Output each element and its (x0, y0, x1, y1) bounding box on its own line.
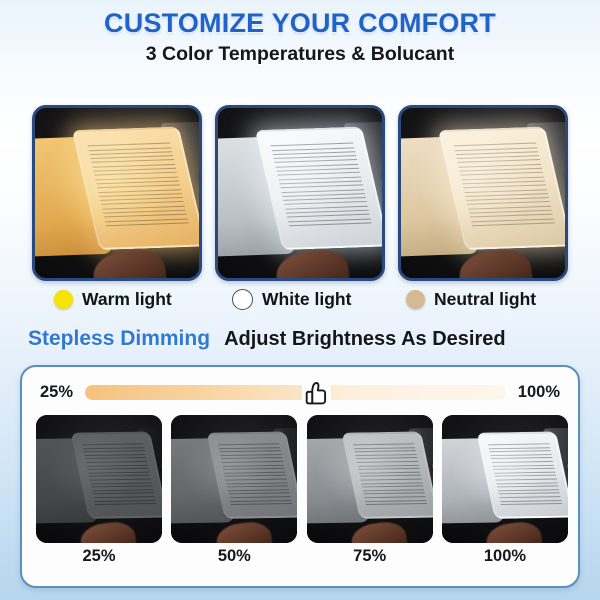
power-button-icon (565, 173, 568, 183)
brightness-label-25: 25% (36, 547, 162, 577)
legend-item-white-light[interactable]: White light (220, 289, 406, 310)
color-temperature-legend: Warm light White light Neutral light (32, 283, 568, 315)
power-button-icon (432, 464, 433, 474)
dimming-headings: Stepless Dimming Adjust Brightness As De… (28, 327, 576, 351)
power-button-icon (297, 464, 298, 474)
page-title: CUSTOMIZE YOUR COMFORT (0, 9, 600, 38)
brightness-thumbnail-row (36, 415, 568, 543)
color-temperature-photo-row (32, 105, 568, 281)
book-text-lines (88, 143, 191, 234)
photo-scene (171, 415, 297, 543)
dimming-heading-primary: Stepless Dimming (28, 327, 210, 351)
circle-swatch-icon (232, 289, 253, 310)
photo-scene (35, 108, 199, 278)
power-button-icon (382, 173, 385, 183)
power-button-icon (199, 173, 202, 183)
thumbnail-brightness-75[interactable] (307, 415, 433, 543)
legend-label: Warm light (82, 289, 172, 310)
power-button-icon (567, 464, 568, 474)
book-text-lines (489, 444, 563, 508)
book-text-lines (83, 444, 157, 508)
brightness-label-100: 100% (442, 547, 568, 577)
legend-item-neutral-light[interactable]: Neutral light (406, 289, 568, 310)
page-subtitle: 3 Color Temperatures & Bolucant (0, 43, 600, 66)
photo-scene (442, 415, 568, 543)
infographic-page: CUSTOMIZE YOUR COMFORT 3 Color Temperatu… (0, 0, 600, 600)
brightness-slider-row[interactable]: 25% 100% (22, 377, 578, 407)
brightness-label-50: 50% (171, 547, 297, 577)
book-text-lines (219, 444, 293, 508)
photo-warm-light[interactable] (32, 105, 202, 281)
photo-scene (401, 108, 565, 278)
circle-swatch-icon (54, 290, 73, 309)
header: CUSTOMIZE YOUR COMFORT 3 Color Temperatu… (0, 0, 600, 66)
thumbnail-brightness-50[interactable] (171, 415, 297, 543)
book-text-lines (454, 143, 557, 234)
brightness-slider-track[interactable] (85, 385, 506, 400)
hand-thumb-cursor-icon[interactable] (301, 377, 331, 407)
photo-white-light[interactable] (215, 105, 385, 281)
power-button-icon (161, 464, 162, 474)
dimming-heading-secondary: Adjust Brightness As Desired (224, 328, 506, 351)
book-text-lines (271, 143, 374, 234)
legend-label: Neutral light (434, 289, 536, 310)
photo-scene (218, 108, 382, 278)
book-text-lines (354, 444, 428, 508)
photo-neutral-light[interactable] (398, 105, 568, 281)
photo-scene (36, 415, 162, 543)
photo-scene (307, 415, 433, 543)
brightness-label-75: 75% (307, 547, 433, 577)
thumbnail-brightness-100[interactable] (442, 415, 568, 543)
slider-min-label: 25% (40, 383, 73, 402)
dimming-card: 25% 100% (20, 365, 580, 588)
legend-label: White light (262, 289, 351, 310)
legend-item-warm-light[interactable]: Warm light (32, 289, 220, 310)
circle-swatch-icon (406, 290, 425, 309)
brightness-level-labels: 25% 50% 75% 100% (36, 547, 568, 577)
thumbnail-brightness-25[interactable] (36, 415, 162, 543)
slider-max-label: 100% (518, 383, 560, 402)
